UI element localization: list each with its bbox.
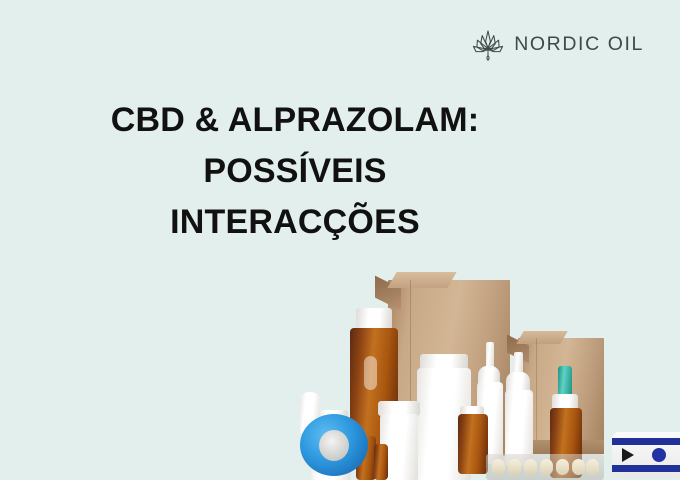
- bag-top-fold: [387, 272, 456, 288]
- nasal-spray-collar-2: [506, 372, 530, 392]
- oximeter-stripe-top: [612, 438, 680, 445]
- oximeter-stripe-bottom: [612, 465, 680, 472]
- article-header-banner: NORDIC OIL CBD & ALPRAZOLAM: POSSÍVEIS I…: [0, 0, 680, 480]
- logo-wordmark: NORDIC OIL: [514, 33, 644, 56]
- bag-crease: [536, 338, 537, 454]
- capsule: [540, 459, 553, 475]
- bag-top-fold: [516, 331, 568, 344]
- capsule: [572, 459, 585, 475]
- bottle-highlight: [364, 356, 377, 390]
- pharmacy-products-photo: [300, 262, 680, 480]
- page-title: CBD & ALPRAZOLAM: POSSÍVEIS INTERACÇÕES: [50, 95, 540, 248]
- capsule: [556, 459, 569, 475]
- tape-inner-core: [319, 430, 349, 461]
- nordic-oil-logo[interactable]: NORDIC OIL: [471, 26, 644, 62]
- capsule: [508, 459, 521, 475]
- pulse-oximeter: [612, 432, 680, 478]
- amber-vial-2: [374, 444, 388, 480]
- capsule: [586, 459, 599, 475]
- amber-syrup-bottle-cap: [356, 308, 392, 330]
- capsule-blister-pack: [486, 454, 604, 480]
- oximeter-clip-notch: [622, 448, 634, 462]
- nasal-spray-nozzle-2: [514, 352, 523, 374]
- title-line-1: CBD & ALPRAZOLAM:: [50, 95, 540, 146]
- title-line-3: INTERACÇÕES: [50, 197, 540, 248]
- capsule: [492, 459, 505, 475]
- oximeter-button[interactable]: [652, 448, 666, 462]
- nasal-spray-nozzle: [486, 342, 494, 368]
- hemp-leaf-icon: [471, 26, 505, 62]
- blue-tape-roll: [300, 414, 368, 476]
- teal-dropper-cap: [558, 366, 572, 396]
- title-line-2: POSSÍVEIS: [50, 146, 540, 197]
- capsule: [524, 459, 537, 475]
- amber-dropper-bottle: [458, 414, 488, 474]
